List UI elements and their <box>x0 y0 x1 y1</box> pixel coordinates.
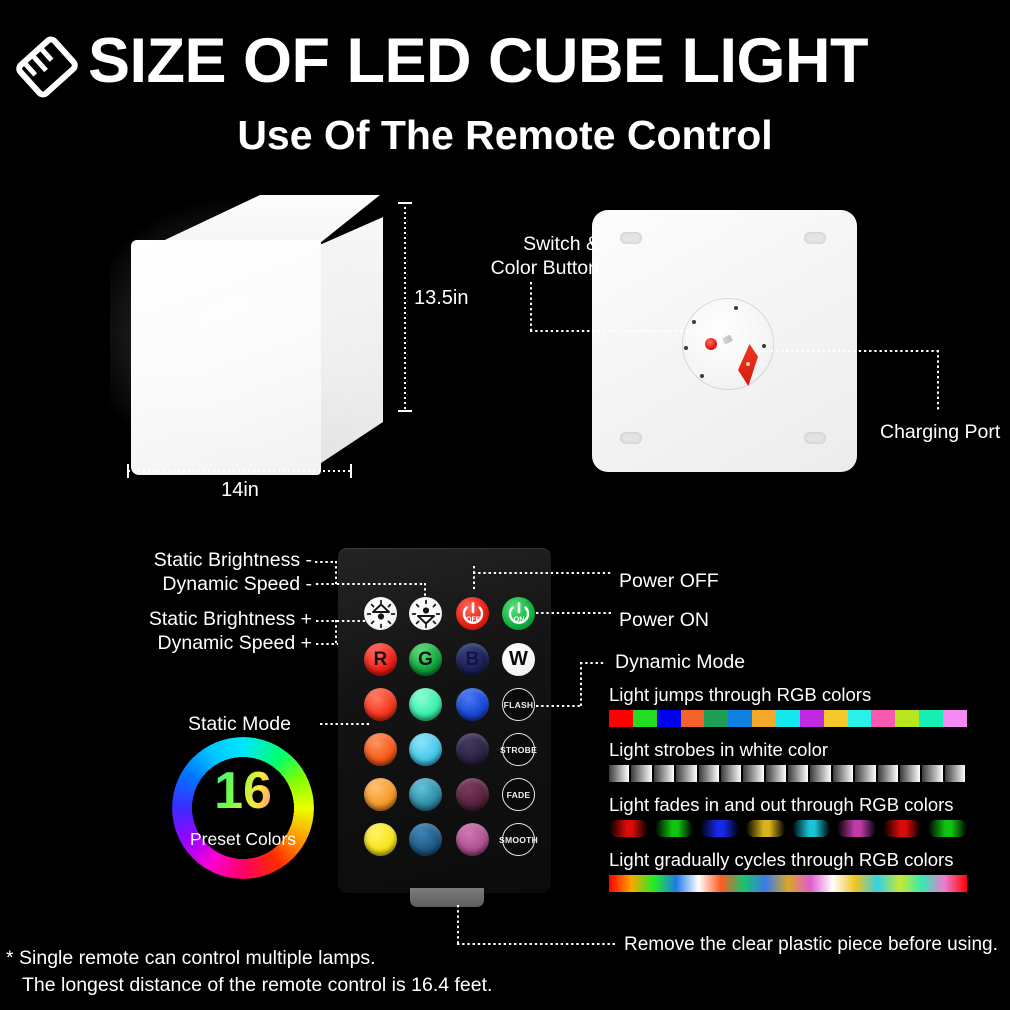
speed-minus-connector-drop <box>424 583 426 599</box>
flash-color-segment <box>848 710 872 727</box>
static-mode-label: Static Mode <box>188 712 291 736</box>
charging-port-callout-label: Charging Port <box>880 420 1000 444</box>
width-dimension-cap-left <box>127 464 129 478</box>
flash-color-segment <box>919 710 943 727</box>
flash-color-segment <box>943 710 967 727</box>
switch-callout-connector-h <box>530 330 712 332</box>
static-brightness-minus-label: Static Brightness - <box>132 548 312 572</box>
svg-text:ON: ON <box>513 614 524 623</box>
dynamic-mode-callout-label: Dynamic Mode <box>615 650 745 674</box>
flash-color-segment <box>752 710 776 727</box>
strobe-color-segment <box>788 765 808 782</box>
mode-strobe-button[interactable]: STROBE <box>502 733 535 766</box>
switch-color-button-callout-label: Switch & Color Button <box>469 232 599 280</box>
fade-color-segment <box>928 820 967 837</box>
brightness-minus-connector-stub <box>315 561 337 563</box>
brightness-minus-connector-v <box>335 561 337 585</box>
flash-color-segment <box>609 710 633 727</box>
power-off-button[interactable]: OFF <box>456 597 489 630</box>
strobe-color-segment <box>676 765 696 782</box>
plastic-connector-v <box>457 905 459 945</box>
flash-color-segment <box>728 710 752 727</box>
preset-colors-ring: 16 Preset Colors <box>172 737 314 879</box>
cube-front-face <box>131 240 321 475</box>
mode-fade-label: FADE <box>507 790 531 800</box>
fade-color-segment <box>700 820 739 837</box>
height-dimension-line <box>404 202 406 412</box>
speed-plus-connector-v <box>335 620 337 644</box>
height-dimension-cap-top <box>398 202 412 204</box>
mode-flash-button[interactable]: FLASH <box>502 688 535 721</box>
flash-color-segment <box>657 710 681 727</box>
dynamic-mode-connector-top <box>580 662 606 664</box>
strobe-color-segment <box>699 765 719 782</box>
charging-port-connector-h <box>755 350 939 352</box>
strobe-color-segment <box>945 765 965 782</box>
fade-color-segment <box>883 820 922 837</box>
footnote-distance: The longest distance of the remote contr… <box>22 973 492 998</box>
dynamic-speed-plus-label: Dynamic Speed + <box>124 631 312 655</box>
strobe-color-segment <box>654 765 674 782</box>
flash-color-segment <box>681 710 705 727</box>
page-subtitle: Use Of The Remote Control <box>0 110 1010 160</box>
switch-callout-connector-v <box>530 282 532 330</box>
flash-caption: Light jumps through RGB colors <box>609 684 979 706</box>
color-green-button[interactable]: G <box>409 643 442 676</box>
strobe-color-segment <box>631 765 651 782</box>
brightness-up-icon <box>366 599 396 629</box>
panel-foot <box>804 232 826 244</box>
flash-color-segment <box>871 710 895 727</box>
color-steel-blue-button[interactable] <box>409 823 442 856</box>
color-dark-purple-button[interactable] <box>456 733 489 766</box>
strobe-color-segment <box>855 765 875 782</box>
strobe-color-segment <box>900 765 920 782</box>
strobe-color-segment <box>721 765 741 782</box>
color-red-label: R <box>364 643 397 676</box>
strobe-caption: Light strobes in white color <box>609 739 979 761</box>
brightness-down-icon <box>411 599 441 629</box>
dynamic-mode-connector-v <box>580 662 582 707</box>
strobe-color-segment <box>833 765 853 782</box>
flash-color-segment <box>800 710 824 727</box>
smooth-caption: Light gradually cycles through RGB color… <box>609 849 979 871</box>
mode-block-smooth: Light gradually cycles through RGB color… <box>609 849 979 892</box>
color-red-orange-button[interactable] <box>364 688 397 721</box>
color-cyan-button[interactable] <box>409 733 442 766</box>
mode-block-strobe: Light strobes in white color <box>609 739 979 782</box>
static-brightness-plus-label: Static Brightness + <box>124 607 312 631</box>
control-disc <box>682 298 774 390</box>
smooth-color-bar <box>609 875 967 892</box>
color-orchid-button[interactable] <box>456 823 489 856</box>
static-mode-connector <box>320 723 370 725</box>
switch-color-button[interactable] <box>705 338 717 350</box>
mode-block-flash: Light jumps through RGB colors <box>609 684 979 727</box>
strobe-color-segment <box>766 765 786 782</box>
color-teal-button[interactable] <box>409 778 442 811</box>
height-label: 13.5in <box>414 286 469 310</box>
charging-port-dot <box>746 362 750 366</box>
color-spring-green-button[interactable] <box>409 688 442 721</box>
panel-foot <box>804 432 826 444</box>
power-on-button[interactable]: ON <box>502 597 535 630</box>
color-yellow-button[interactable] <box>364 823 397 856</box>
power-on-icon: ON <box>505 600 533 628</box>
dynamic-speed-minus-label: Dynamic Speed - <box>132 572 312 596</box>
color-blue-bright-button[interactable] <box>456 688 489 721</box>
led-cube-image <box>110 195 430 495</box>
switch-color-button-callout-line1: Switch & <box>469 232 599 256</box>
plastic-callout-label: Remove the clear plastic piece before us… <box>624 933 998 957</box>
mode-strobe-label: STROBE <box>500 745 537 755</box>
dynamic-mode-connector-h <box>536 705 582 707</box>
brightness-down-button[interactable] <box>409 597 442 630</box>
fade-color-segment <box>837 820 876 837</box>
strobe-color-segment <box>922 765 942 782</box>
page-title: SIZE OF LED CUBE LIGHT <box>88 26 1006 96</box>
fade-color-bar <box>609 820 967 837</box>
cube-bottom-panel-image <box>592 210 857 472</box>
color-red-button[interactable]: R <box>364 643 397 676</box>
charging-port-connector-v <box>937 350 939 412</box>
fade-color-segment <box>609 820 648 837</box>
panel-foot <box>620 432 642 444</box>
switch-color-button-callout-line2: Color Button <box>469 256 599 280</box>
flash-color-segment <box>895 710 919 727</box>
color-blue-label: B <box>456 643 489 676</box>
panel-foot <box>620 232 642 244</box>
color-green-label: G <box>409 643 442 676</box>
mode-flash-label: FLASH <box>504 700 534 710</box>
strobe-color-segment <box>878 765 898 782</box>
color-dark-magenta-button[interactable] <box>456 778 489 811</box>
svg-text:OFF: OFF <box>466 616 481 623</box>
brightness-plus-connector-h <box>316 620 366 622</box>
color-white-label: W <box>509 648 528 671</box>
flash-color-segment <box>704 710 728 727</box>
strobe-color-segment <box>609 765 629 782</box>
preset-caption: Preset Colors <box>172 829 314 849</box>
power-on-connector-h <box>536 612 612 614</box>
brightness-up-button[interactable] <box>364 597 397 630</box>
power-off-callout-label: Power OFF <box>619 569 719 593</box>
header: SIZE OF LED CUBE LIGHT Use Of The Remote… <box>0 0 1010 180</box>
clear-plastic-tab[interactable] <box>410 888 484 907</box>
mode-block-fade: Light fades in and out through RGB color… <box>609 794 979 837</box>
mode-smooth-label: SMOOTH <box>499 835 538 845</box>
ruler-icon <box>8 28 86 106</box>
fade-color-segment <box>746 820 785 837</box>
power-off-icon: OFF <box>459 600 487 628</box>
speed-minus-connector-h <box>316 583 426 585</box>
color-blue-button[interactable]: B <box>456 643 489 676</box>
fade-color-segment <box>655 820 694 837</box>
width-dimension-cap-right <box>350 464 352 478</box>
power-off-connector-v <box>473 566 475 592</box>
mode-smooth-button[interactable]: SMOOTH <box>502 823 535 856</box>
power-off-connector-h <box>473 572 611 574</box>
preset-count: 16 <box>172 763 314 819</box>
color-orange-button[interactable] <box>364 733 397 766</box>
flash-color-bar <box>609 710 967 727</box>
color-amber-button[interactable] <box>364 778 397 811</box>
footnote-single-remote: * Single remote can control multiple lam… <box>6 946 376 971</box>
flash-color-segment <box>633 710 657 727</box>
width-label: 14in <box>128 478 352 502</box>
flash-color-segment <box>824 710 848 727</box>
cube-side-face <box>315 217 383 467</box>
strobe-color-segment <box>743 765 763 782</box>
mode-fade-button[interactable]: FADE <box>502 778 535 811</box>
strobe-color-bar <box>609 765 967 782</box>
fade-caption: Light fades in and out through RGB color… <box>609 794 979 816</box>
color-white-button[interactable]: W <box>502 643 535 676</box>
flash-color-segment <box>776 710 800 727</box>
height-dimension-cap-bottom <box>398 410 412 412</box>
width-dimension-line <box>128 470 352 472</box>
strobe-color-segment <box>810 765 830 782</box>
power-on-callout-label: Power ON <box>619 608 709 632</box>
plastic-connector-h <box>457 943 617 945</box>
fade-color-segment <box>792 820 831 837</box>
